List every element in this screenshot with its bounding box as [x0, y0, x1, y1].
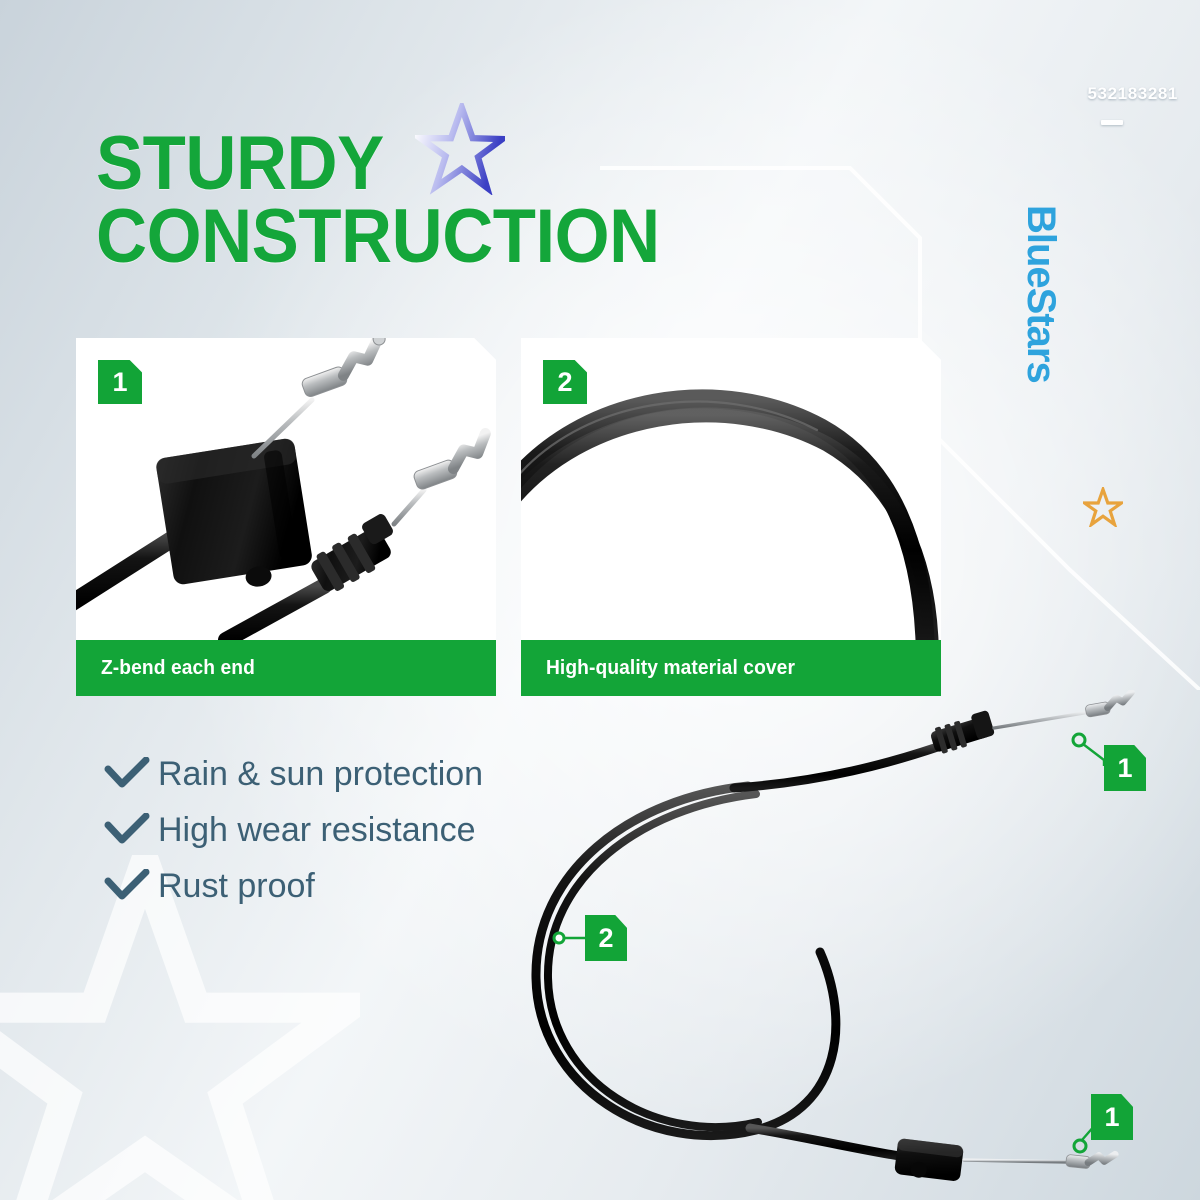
feature-label: High wear resistance — [158, 813, 475, 847]
panel-1-caption: Z-bend each end — [76, 640, 496, 696]
hero-callout-badge-1-top: 1 — [1104, 745, 1146, 791]
panel-1-caption-text: Z-bend each end — [76, 657, 255, 680]
feature-panel-2: 2 High-quality material cover — [521, 338, 941, 696]
infographic-canvas: STURDY CONSTRUCTION 532183281 BlueStars — [0, 0, 1200, 1200]
brand-star-icon — [1083, 487, 1123, 527]
part-number: 532183281 — [1088, 84, 1179, 104]
panel-2-caption: High-quality material cover — [521, 640, 941, 696]
feature-panel-1: 1 Z-bend each end — [76, 338, 496, 696]
headline-star-icon — [415, 103, 505, 195]
headline-line-2: CONSTRUCTION — [96, 201, 747, 274]
check-icon — [104, 869, 150, 903]
panel-2-badge: 2 — [543, 360, 587, 404]
divider-dash — [1101, 120, 1123, 125]
brand-logo: BlueStars — [1018, 205, 1063, 383]
panel-1-badge: 1 — [98, 360, 142, 404]
feature-label: Rust proof — [158, 869, 315, 903]
feature-label: Rain & sun protection — [158, 757, 483, 791]
hero-callout-badge-2: 2 — [585, 915, 627, 961]
check-icon — [104, 813, 150, 847]
panel-2-caption-text: High-quality material cover — [521, 657, 795, 680]
check-icon — [104, 757, 150, 791]
hero-callout-badge-1-bottom: 1 — [1091, 1094, 1133, 1140]
